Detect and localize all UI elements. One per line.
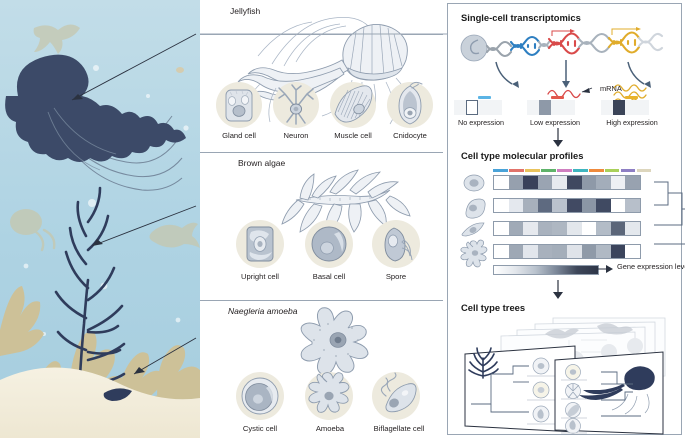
- dna-segment-red: [549, 34, 579, 54]
- cell-circle-cnidocyte[interactable]: [387, 82, 433, 128]
- tab-no-expression: [478, 96, 491, 99]
- teardrop-cell-icon: [466, 199, 485, 218]
- divider-algae: [200, 152, 443, 153]
- cell-circle-amoeba[interactable]: [305, 372, 353, 420]
- transcription-arrows: [496, 60, 644, 84]
- heatmap-gene-headers: [493, 169, 653, 172]
- section-title-trees: Cell type trees: [461, 302, 525, 313]
- tree-card-jellyfish: [555, 352, 663, 434]
- cell-circle-neuron[interactable]: [273, 82, 319, 128]
- cell-circle-upright-cell[interactable]: [236, 220, 284, 268]
- cystic-cell-icon: [236, 372, 284, 420]
- table-row[interactable]: [493, 175, 641, 190]
- round-cell-icon: [464, 175, 484, 191]
- flow-arrow-1: [551, 128, 565, 148]
- section-title-transcriptomics: Single-cell transcriptomics: [461, 12, 581, 23]
- naegleria-amoeba-drawing: [200, 306, 443, 376]
- spore-icon: [372, 220, 420, 268]
- amoeba-icon: [305, 372, 353, 420]
- dna-segment-grey: [579, 34, 609, 52]
- heatmap-row-icons: [461, 174, 487, 266]
- dna-segment-yellow: [609, 33, 639, 53]
- jellyfish-bell: [343, 24, 408, 80]
- cell-label-amoeba: Amoeba: [302, 424, 358, 433]
- figure-root: Jellyfish: [0, 0, 685, 438]
- table-row[interactable]: [493, 198, 641, 213]
- tab-low-expression: [551, 96, 564, 99]
- table-row[interactable]: [493, 244, 641, 259]
- biflagellate-cell-icon: [372, 372, 420, 420]
- cell-label-biflagellate-cell: Biflagellate cell: [360, 424, 438, 433]
- gland-cell-icon: [216, 82, 262, 128]
- flow-arrow-2: [551, 280, 565, 300]
- mrna-label: mRNA: [600, 84, 622, 93]
- divider-amoeba: [200, 300, 443, 301]
- expression-strip-no-expression[interactable]: [454, 100, 502, 115]
- muscle-cell-icon: [330, 82, 376, 128]
- dna-transcription-diagram: [456, 26, 672, 106]
- cell-circle-spore[interactable]: [372, 220, 420, 268]
- basal-cell-icon: [305, 220, 353, 268]
- cell-circle-basal-cell[interactable]: [305, 220, 353, 268]
- expression-strip-high-expression[interactable]: [601, 100, 649, 115]
- cell-label-cnidocyte: Cnidocyte: [380, 131, 440, 140]
- gene-expression-gradient: [493, 265, 599, 275]
- expression-strip-low-expression[interactable]: [527, 100, 575, 115]
- method-workflow-panel: Single-cell transcriptomics: [447, 3, 682, 435]
- expression-label-high-expression: High expression: [596, 118, 668, 127]
- cell-label-spore: Spore: [368, 272, 424, 281]
- cell-label-muscle-cell: Muscle cell: [320, 131, 386, 140]
- cell-circle-gland-cell[interactable]: [216, 82, 262, 128]
- cell-label-cystic-cell: Cystic cell: [228, 424, 292, 433]
- neuron-icon: [273, 82, 319, 128]
- cell-label-gland-cell: Gland cell: [206, 131, 272, 140]
- tab-high-expression: [625, 96, 638, 99]
- cell-circle-cystic-cell[interactable]: [236, 372, 284, 420]
- expression-label-low-expression: Low expression: [522, 118, 588, 127]
- legend-label-gene-expression: Gene expression level: [617, 262, 685, 271]
- spiky-amoeba-icon: [461, 240, 487, 267]
- cell-label-basal-cell: Basal cell: [298, 272, 360, 281]
- dna-segment-blue: [511, 37, 539, 55]
- cell-label-neuron: Neuron: [266, 131, 326, 140]
- section-title-profiles: Cell type molecular profiles: [461, 150, 583, 161]
- expression-label-no-expression: No expression: [448, 118, 514, 127]
- cnidocyte-icon: [387, 82, 433, 128]
- cell-type-trees-cards: [457, 316, 673, 436]
- upright-cell-icon: [236, 220, 284, 268]
- dendrogram: [654, 174, 685, 266]
- elongated-cell-icon: [462, 223, 484, 236]
- table-row[interactable]: [493, 221, 641, 236]
- cell-circle-muscle-cell[interactable]: [330, 82, 376, 128]
- ocean-scene-panel: [0, 0, 200, 438]
- organism-cell-types-panel: Jellyfish: [200, 0, 443, 438]
- cell-label-upright-cell: Upright cell: [226, 272, 294, 281]
- legend-arrow: [597, 264, 615, 274]
- ocean-illustration: [0, 0, 200, 438]
- source-cell-icon: [461, 35, 487, 61]
- cell-circle-biflagellate-cell[interactable]: [372, 372, 420, 420]
- leaf-cell-icons: [533, 358, 549, 422]
